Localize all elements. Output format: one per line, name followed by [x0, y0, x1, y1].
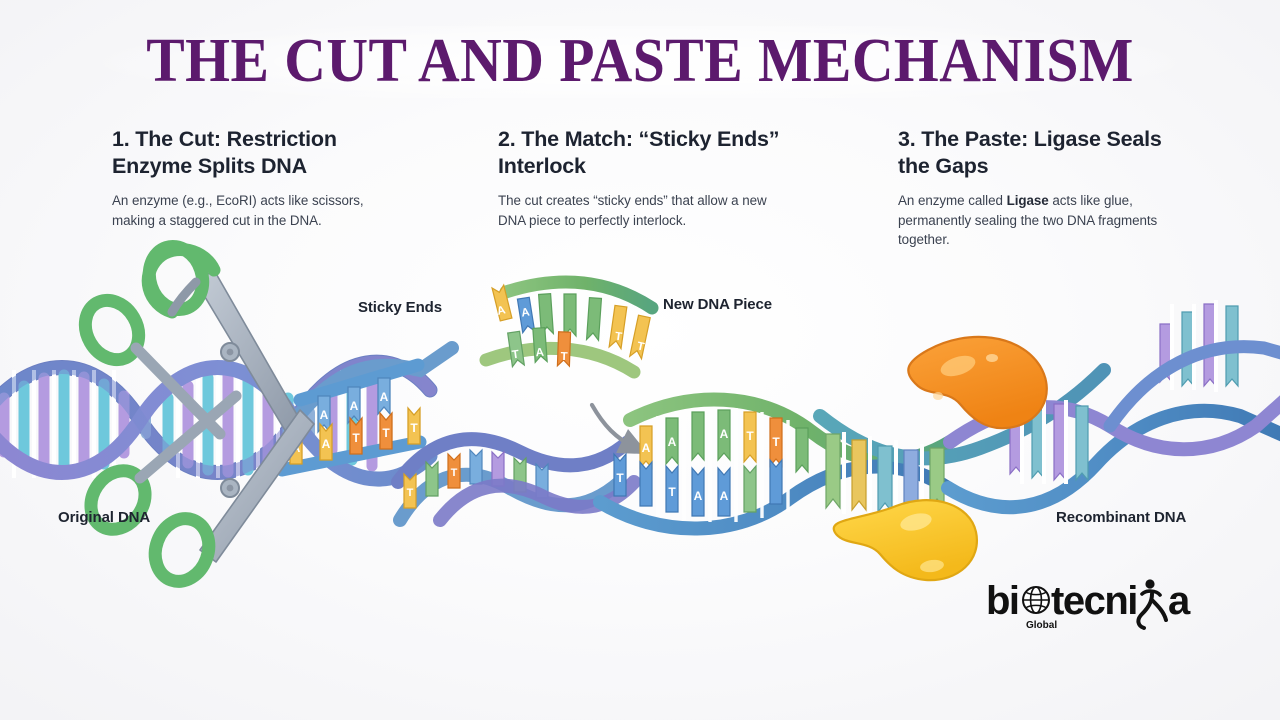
label-sticky-ends: Sticky Ends	[358, 299, 442, 316]
svg-text:T: T	[772, 435, 780, 449]
svg-text:T: T	[407, 487, 414, 499]
svg-text:A: A	[694, 489, 703, 503]
human-figure-icon	[1138, 579, 1166, 628]
biotecnika-logo: bi tecni a Global	[982, 570, 1197, 634]
svg-text:A: A	[668, 435, 677, 449]
svg-text:A: A	[535, 347, 544, 360]
ligase-enzyme-yellow	[834, 500, 977, 580]
label-new-dna-piece: New DNA Piece	[663, 296, 772, 313]
logo-word-part-2: tecni	[1051, 579, 1137, 623]
svg-text:A: A	[320, 408, 329, 422]
step-3-body-lead: An enzyme called	[898, 193, 1007, 208]
step-3-heading: 3. The Paste: Ligase Seals the Gaps	[898, 126, 1176, 180]
globe-icon	[1023, 587, 1049, 613]
svg-text:A: A	[642, 441, 651, 455]
svg-text:T: T	[616, 471, 624, 485]
scissors-icon	[75, 240, 314, 589]
svg-text:T: T	[560, 351, 567, 363]
infographic-canvas: THE CUT AND PASTE MECHANISM 1. The Cut: …	[0, 0, 1280, 720]
step-1-block: 1. The Cut: Restriction Enzyme Splits DN…	[112, 126, 400, 230]
step-2-heading: 2. The Match: “Sticky Ends” Interlock	[498, 126, 790, 180]
svg-text:T: T	[382, 426, 390, 440]
new-dna-piece: A A T A T T T	[486, 282, 652, 372]
svg-text:T: T	[636, 340, 645, 353]
step-2-block: 2. The Match: “Sticky Ends” Interlock Th…	[498, 126, 790, 230]
svg-text:T: T	[352, 431, 360, 445]
svg-text:T: T	[668, 485, 676, 499]
label-recombinant-dna: Recombinant DNA	[1056, 509, 1186, 526]
logo-tagline: Global	[1026, 620, 1057, 631]
svg-text:A: A	[322, 437, 331, 451]
logo-word-part-1: bi	[986, 579, 1019, 623]
svg-text:T: T	[746, 429, 754, 443]
recombinant-dna-segment	[826, 300, 1280, 514]
logo-word-part-3: a	[1168, 579, 1191, 623]
svg-text:T: T	[451, 467, 458, 479]
svg-text:T: T	[410, 421, 418, 435]
svg-text:A: A	[350, 399, 359, 413]
svg-text:A: A	[380, 390, 389, 404]
page-title: THE CUT AND PASTE MECHANISM	[45, 28, 1235, 94]
step-1-heading: 1. The Cut: Restriction Enzyme Splits DN…	[112, 126, 400, 180]
svg-text:A: A	[720, 427, 729, 441]
ligase-enzyme-orange	[908, 337, 1047, 428]
step-3-body-emphasis: Ligase	[1007, 193, 1049, 208]
label-original-dna: Original DNA	[58, 509, 150, 526]
svg-text:A: A	[720, 489, 729, 503]
